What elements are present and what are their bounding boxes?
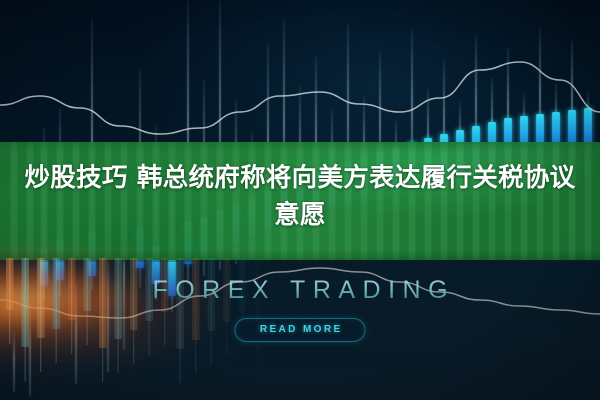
page-title: 炒股技巧 韩总统府称将向美方表达履行关税协议 意愿 — [0, 160, 600, 234]
lower-candle-wick — [211, 258, 212, 365]
read-more-button[interactable]: READ MORE — [234, 318, 365, 342]
lower-candle-wick — [226, 258, 227, 356]
lower-candle-wick — [133, 258, 134, 364]
forex-trading-banner: 炒股技巧 韩总统府称将向美方表达履行关税协议 意愿 FOREX TRADING … — [0, 0, 600, 400]
lower-candle-wick — [56, 258, 57, 363]
lower-candle-wick — [149, 258, 150, 355]
lower-candle-wick — [71, 258, 72, 354]
forex-trading-wordmark: FOREX TRADING — [0, 276, 600, 305]
